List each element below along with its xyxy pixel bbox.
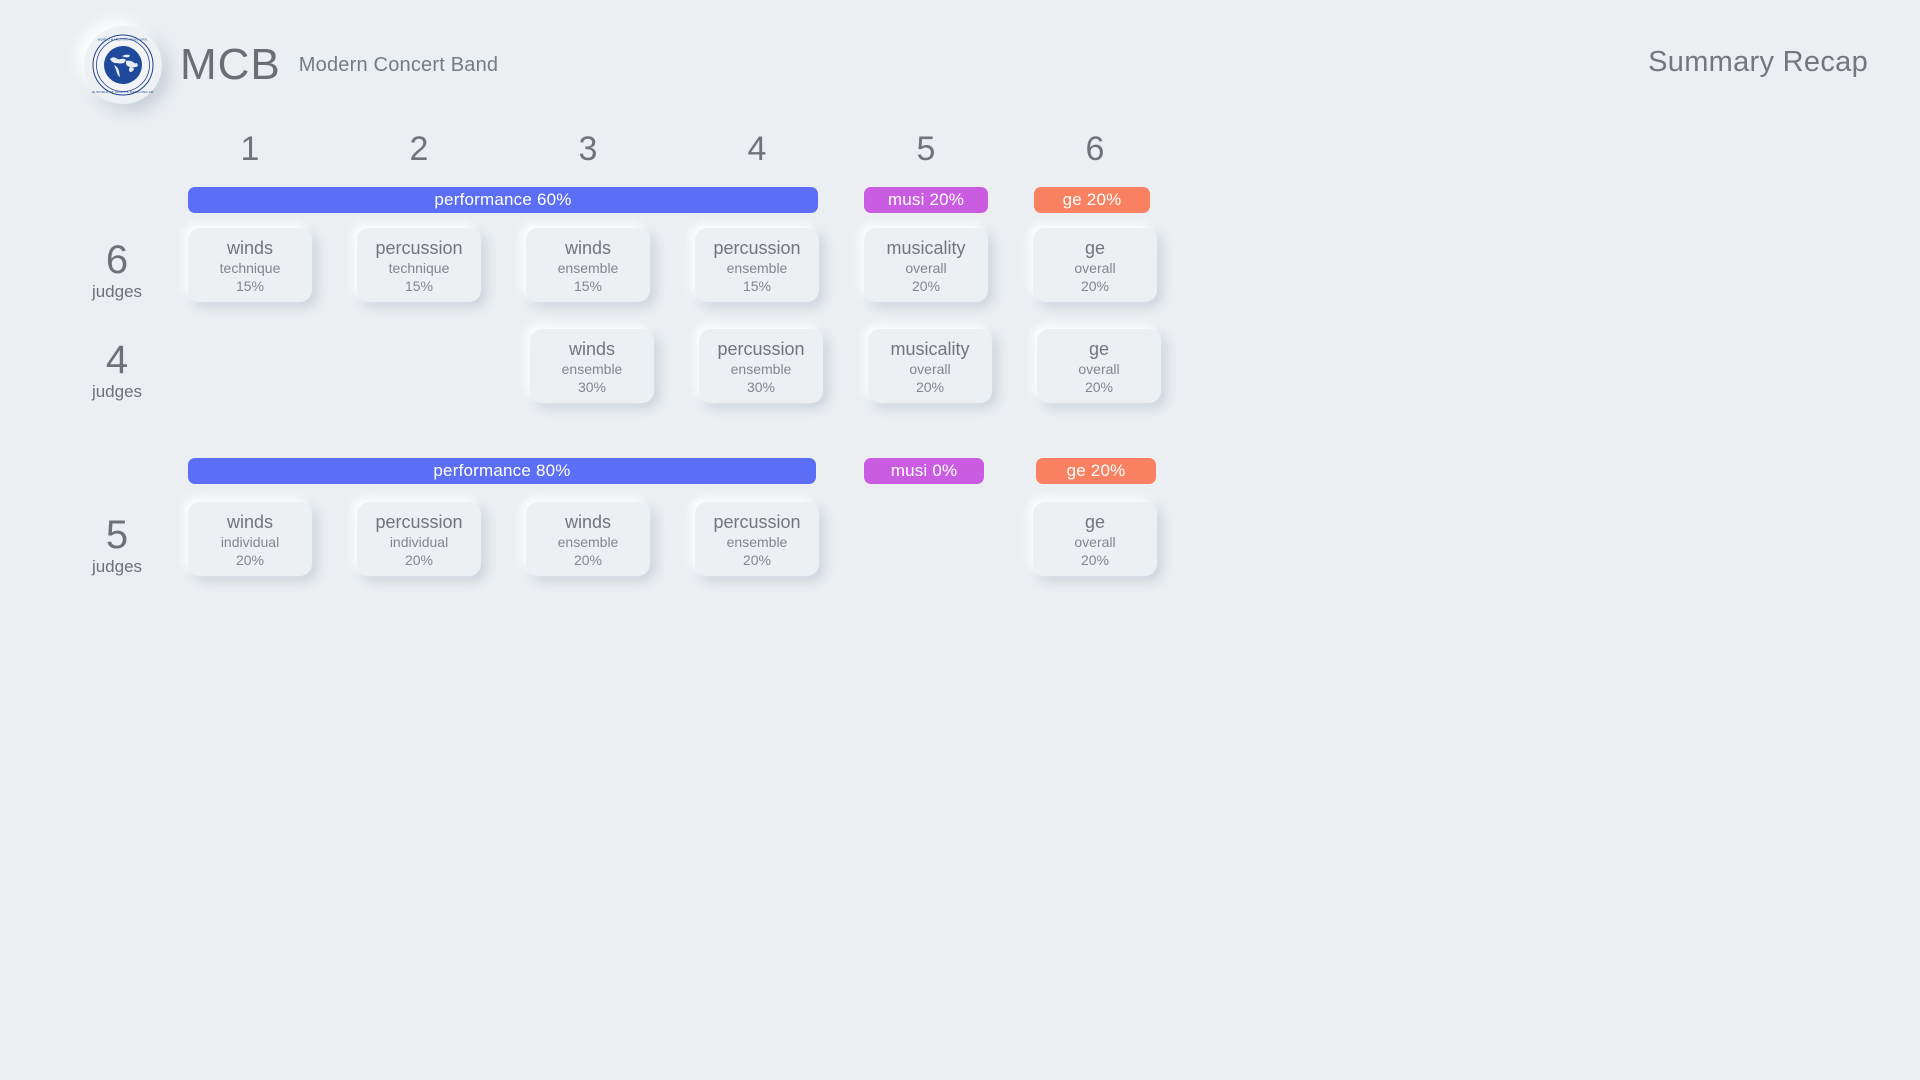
card-subtitle: technique (220, 259, 281, 277)
column-number-1: 1 (188, 130, 312, 169)
judges-count-label: 4judges (62, 340, 172, 402)
card-subtitle: ensemble (562, 360, 623, 378)
criteria-card[interactable]: geoverall20% (1033, 502, 1157, 576)
card-weight: 20% (236, 551, 264, 569)
criteria-card[interactable]: musicalityoverall20% (868, 329, 992, 403)
card-weight: 15% (743, 277, 771, 295)
card-subtitle: overall (905, 259, 946, 277)
card-subtitle: overall (1074, 259, 1115, 277)
card-subtitle: individual (390, 533, 448, 551)
card-subtitle: overall (1074, 533, 1115, 551)
judges-count-number: 5 (62, 515, 172, 555)
card-weight: 20% (912, 277, 940, 295)
card-weight: 30% (747, 378, 775, 396)
judges-count-label: 5judges (62, 515, 172, 577)
card-title: winds (227, 511, 273, 533)
card-weight: 20% (916, 378, 944, 396)
card-weight: 15% (236, 277, 264, 295)
caption-bar-blue[interactable]: performance 80% (188, 458, 816, 484)
caption-bar-purple[interactable]: musi 0% (864, 458, 984, 484)
caption-bar-orange[interactable]: ge 20% (1036, 458, 1156, 484)
criteria-card[interactable]: percussionindividual20% (357, 502, 481, 576)
summary-recap-page: WORLD MARCHING BAND ORG. THE WORLD OF MU… (0, 0, 1920, 1080)
judges-count-number: 4 (62, 340, 172, 380)
card-title: percussion (375, 511, 462, 533)
card-weight: 20% (405, 551, 433, 569)
card-title: musicality (890, 338, 969, 360)
criteria-card[interactable]: windsensemble20% (526, 502, 650, 576)
card-title: percussion (713, 237, 800, 259)
card-title: winds (227, 237, 273, 259)
card-weight: 20% (574, 551, 602, 569)
column-number-4: 4 (695, 130, 819, 169)
card-weight: 15% (405, 277, 433, 295)
card-subtitle: overall (1078, 360, 1119, 378)
criteria-card[interactable]: windsensemble30% (530, 329, 654, 403)
card-title: winds (569, 338, 615, 360)
card-subtitle: overall (909, 360, 950, 378)
card-title: winds (565, 237, 611, 259)
judges-count-caption: judges (62, 282, 172, 302)
card-title: ge (1089, 338, 1109, 360)
card-weight: 20% (1081, 551, 1109, 569)
caption-bar-blue[interactable]: performance 60% (188, 187, 818, 213)
column-number-6: 6 (1033, 130, 1157, 169)
criteria-card[interactable]: geoverall20% (1033, 228, 1157, 302)
caption-bar-orange[interactable]: ge 20% (1034, 187, 1150, 213)
card-weight: 15% (574, 277, 602, 295)
criteria-card[interactable]: windsensemble15% (526, 228, 650, 302)
criteria-card[interactable]: percussiontechnique15% (357, 228, 481, 302)
criteria-card[interactable]: musicalityoverall20% (864, 228, 988, 302)
card-title: musicality (886, 237, 965, 259)
judges-count-caption: judges (62, 557, 172, 577)
card-title: ge (1085, 237, 1105, 259)
caption-bar-purple[interactable]: musi 20% (864, 187, 988, 213)
card-subtitle: ensemble (558, 259, 619, 277)
criteria-card[interactable]: percussionensemble20% (695, 502, 819, 576)
card-subtitle: ensemble (727, 259, 788, 277)
card-weight: 20% (1081, 277, 1109, 295)
card-subtitle: technique (389, 259, 450, 277)
column-number-5: 5 (864, 130, 988, 169)
card-title: winds (565, 511, 611, 533)
recap-grid: 123456performance 60%musi 20%ge 20%6judg… (0, 0, 1920, 1080)
card-weight: 20% (1085, 378, 1113, 396)
criteria-card[interactable]: windsindividual20% (188, 502, 312, 576)
card-title: percussion (717, 338, 804, 360)
card-subtitle: ensemble (558, 533, 619, 551)
card-weight: 20% (743, 551, 771, 569)
card-subtitle: individual (221, 533, 279, 551)
criteria-card[interactable]: percussionensemble30% (699, 329, 823, 403)
judges-count-label: 6judges (62, 240, 172, 302)
card-title: percussion (375, 237, 462, 259)
column-number-2: 2 (357, 130, 481, 169)
card-subtitle: ensemble (731, 360, 792, 378)
card-title: ge (1085, 511, 1105, 533)
judges-count-number: 6 (62, 240, 172, 280)
card-title: percussion (713, 511, 800, 533)
judges-count-caption: judges (62, 382, 172, 402)
card-subtitle: ensemble (727, 533, 788, 551)
card-weight: 30% (578, 378, 606, 396)
criteria-card[interactable]: geoverall20% (1037, 329, 1161, 403)
criteria-card[interactable]: percussionensemble15% (695, 228, 819, 302)
criteria-card[interactable]: windstechnique15% (188, 228, 312, 302)
column-number-3: 3 (526, 130, 650, 169)
